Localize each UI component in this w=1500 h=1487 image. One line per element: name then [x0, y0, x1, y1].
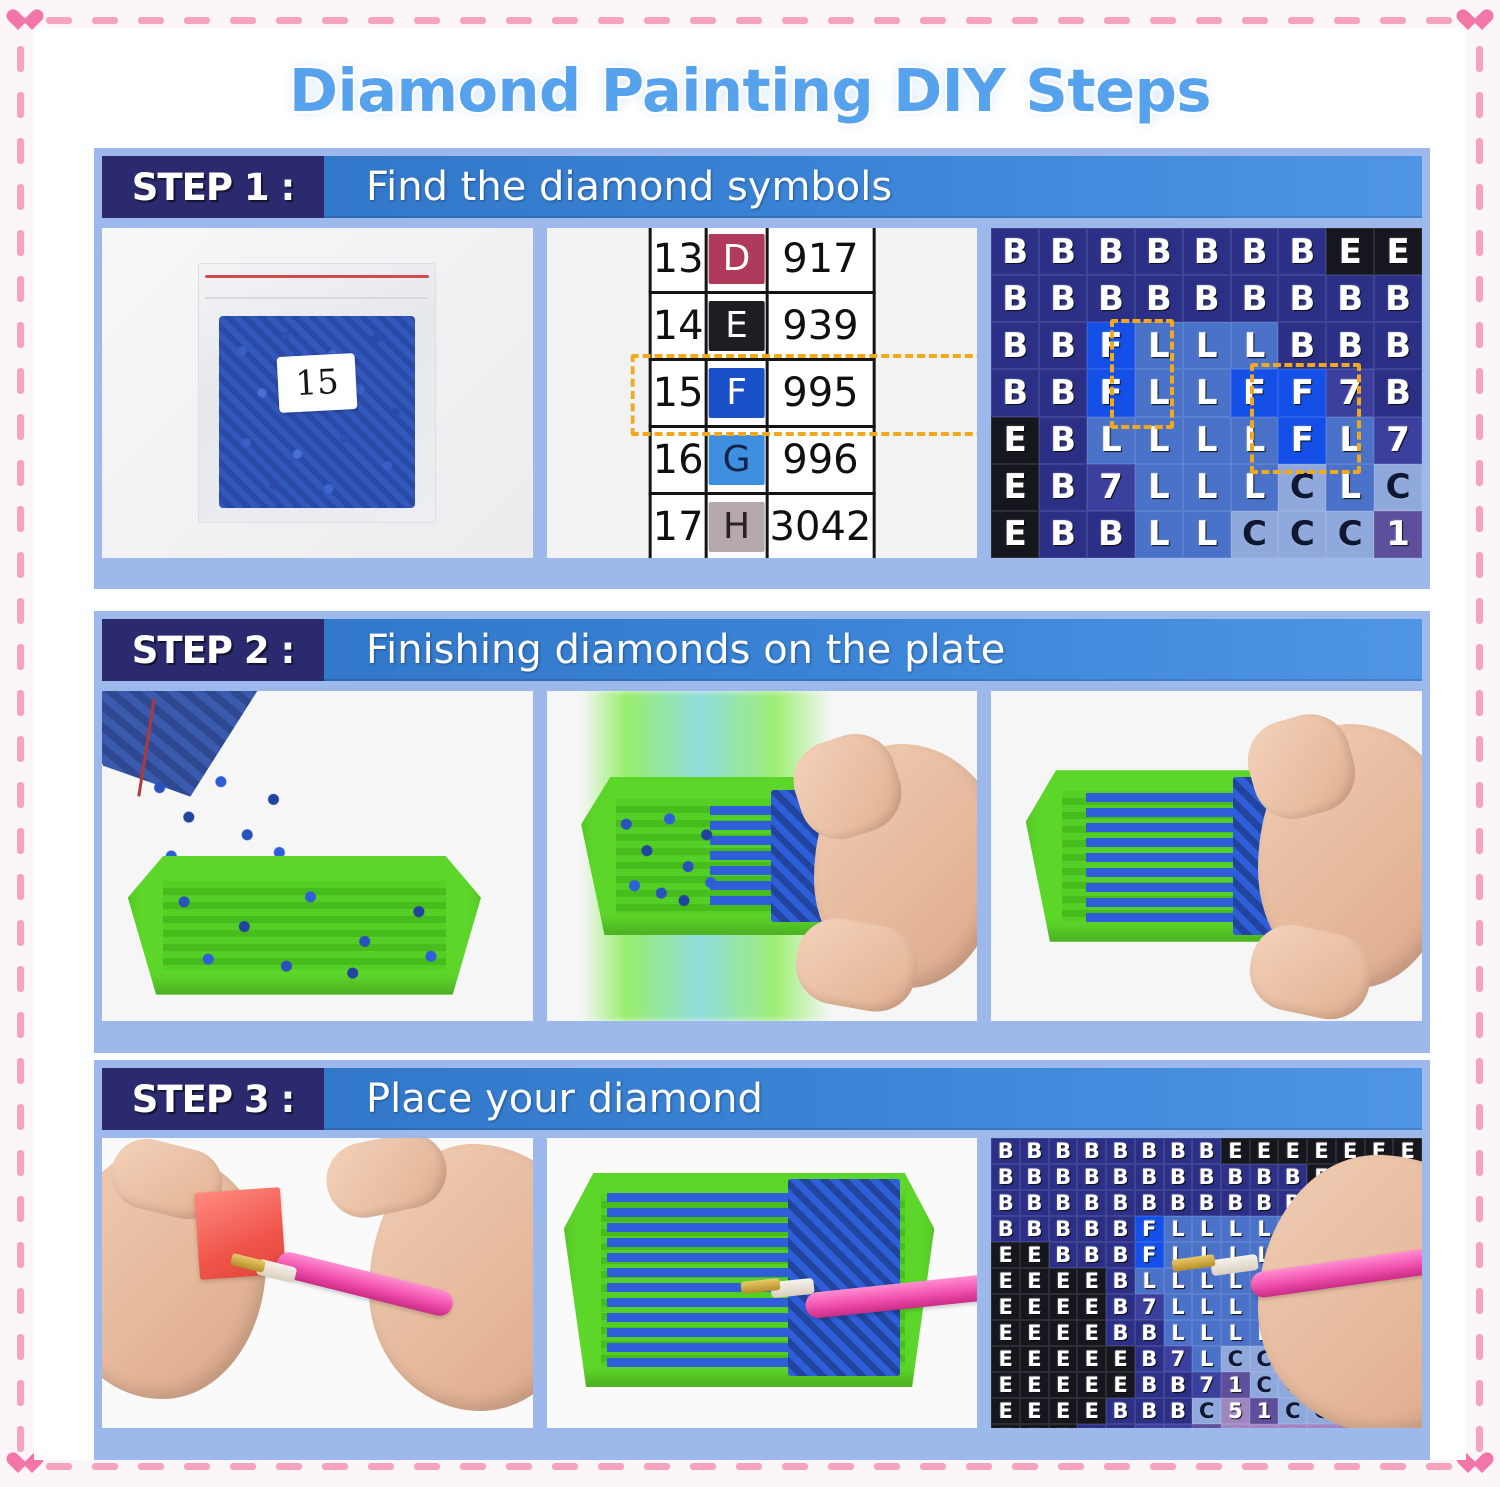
page-title: Diamond Painting DIY Steps	[34, 48, 1466, 134]
step-3-badge: STEP 3 :	[102, 1068, 324, 1130]
grid-cell: B	[991, 1190, 1020, 1216]
grid-cell: E	[991, 1320, 1020, 1346]
grid-cell: E	[991, 1398, 1020, 1424]
grid-cell: B	[1106, 1242, 1135, 1268]
grid-cell: B	[1049, 1242, 1078, 1268]
pour-diamonds-photo	[102, 691, 533, 1021]
grid-cell: B	[1020, 1138, 1049, 1164]
grid-cell: L	[1135, 417, 1183, 464]
grid-cell: B	[1221, 1190, 1250, 1216]
step-1-header: STEP 1 : Find the diamond symbols	[102, 156, 1422, 218]
step-1-block: STEP 1 : Find the diamond symbols 15	[94, 148, 1430, 589]
loose-diamonds-in-tray	[154, 882, 455, 981]
grid-cell: B	[1192, 1164, 1221, 1190]
grid-cell: C	[1250, 1372, 1279, 1398]
grid-cell: L	[1192, 1320, 1221, 1346]
grid-cell: L	[1326, 417, 1374, 464]
grid-cell: E	[1020, 1346, 1049, 1372]
grid-cell: B	[1135, 1346, 1164, 1372]
legend-symbol-cell: F	[706, 360, 767, 427]
grid-cell: 1	[1374, 511, 1422, 558]
grid-cell: B	[1278, 1164, 1307, 1190]
grid-cell: B	[1164, 1138, 1193, 1164]
grid-cell: B	[1077, 1216, 1106, 1242]
grid-cell: L	[1221, 1294, 1250, 1320]
step-2-badge: STEP 2 :	[102, 619, 324, 681]
grid-cell: B	[1192, 1138, 1221, 1164]
grid-cell: L	[1221, 1216, 1250, 1242]
grid-cell: B	[991, 1216, 1020, 1242]
legend-symbol: H	[709, 502, 765, 552]
bag-zip-line	[205, 297, 429, 299]
grid-cell: L	[1192, 1294, 1221, 1320]
grid-cell: B	[1135, 275, 1183, 322]
grid-cell: B	[1039, 228, 1087, 275]
grid-cell: 7	[1087, 464, 1135, 511]
step-3-title: Place your diamond	[324, 1068, 763, 1130]
grid-cell: B	[1087, 275, 1135, 322]
grid-cell: E	[1307, 1138, 1336, 1164]
bag-zip-seal	[205, 275, 429, 278]
legend-dmc-code: 917	[767, 228, 874, 293]
grid-cell: F	[1278, 369, 1326, 416]
grid-cell: L	[1164, 1294, 1193, 1320]
grid-cell: B	[1106, 1190, 1135, 1216]
grid-cell: L	[1183, 464, 1231, 511]
grid-cell: L	[1135, 511, 1183, 558]
grid-cell: L	[1183, 511, 1231, 558]
grid-cell: L	[1231, 417, 1279, 464]
step-2-header: STEP 2 : Finishing diamonds on the plate	[102, 619, 1422, 681]
symbol-legend-table: 13D91714E93915F99516G99617H3042	[547, 228, 978, 558]
grid-cell: 7	[1164, 1346, 1193, 1372]
legend-symbol: E	[709, 301, 765, 351]
grid-cell: B	[1106, 1320, 1135, 1346]
grid-cell: B	[1020, 1164, 1049, 1190]
grid-cell: B	[991, 322, 1039, 369]
grid-cell: 7	[1164, 1424, 1193, 1428]
grid-cell: B	[1135, 1320, 1164, 1346]
grid-cell: E	[1049, 1346, 1078, 1372]
grid-cell: L	[1135, 464, 1183, 511]
grid-cell: B	[1231, 275, 1279, 322]
grid-cell: B	[991, 369, 1039, 416]
grid-cell: 5	[1250, 1424, 1279, 1428]
grid-cell: E	[1020, 1268, 1049, 1294]
grid-cell: L	[1087, 417, 1135, 464]
grid-cell: B	[1039, 369, 1087, 416]
grid-cell: C	[1231, 511, 1279, 558]
step-1-title: Find the diamond symbols	[324, 156, 892, 218]
diamond-pile	[788, 1179, 900, 1376]
grid-cell: E	[1020, 1242, 1049, 1268]
shake-tray-photo	[547, 691, 978, 1021]
grid-cell: E	[991, 1294, 1020, 1320]
grid-cell: L	[1135, 322, 1183, 369]
grid-cell: B	[1087, 511, 1135, 558]
grid-cell: B	[1135, 1138, 1164, 1164]
grid-cell: 5	[1221, 1398, 1250, 1424]
loose-diamonds	[616, 803, 719, 909]
legend-number: 17	[650, 494, 706, 559]
grid-cell: C	[1374, 464, 1422, 511]
grid-cell: B	[1039, 511, 1087, 558]
grid-cell: B	[1020, 1216, 1049, 1242]
grid-cell: E	[1077, 1398, 1106, 1424]
grid-cell: B	[1135, 1398, 1164, 1424]
legend-number: 16	[650, 427, 706, 494]
grid-cell: 1	[1221, 1372, 1250, 1398]
grid-cell: 5	[1278, 1424, 1307, 1428]
grid-cell: 7	[1192, 1372, 1221, 1398]
legend-symbol-cell: H	[706, 494, 767, 559]
grid-cell: L	[1164, 1268, 1193, 1294]
grid-cell: E	[1020, 1294, 1049, 1320]
legend-table-wrap: 13D91714E93915F99516G99617H3042	[649, 228, 876, 558]
grid-cell: B	[1077, 1164, 1106, 1190]
step-3-panels: BBBBBBBBEEEEEEEBBBBBBBBBBBEEBBBBBBBBBBBB…	[102, 1138, 1422, 1428]
grid-cell: B	[1106, 1268, 1135, 1294]
grid-cell: E	[1077, 1294, 1106, 1320]
grid-cell: B	[1106, 1216, 1135, 1242]
grid-cell: E	[991, 1372, 1020, 1398]
grid-cell: B	[1049, 1190, 1078, 1216]
grid-cell: E	[1020, 1372, 1049, 1398]
legend-dmc-code: 996	[767, 427, 874, 494]
table-row: 13D917	[650, 228, 874, 293]
grid-cell: B	[1231, 228, 1279, 275]
grid-cell: E	[1250, 1138, 1279, 1164]
grid-cell: 5	[1307, 1424, 1336, 1428]
grid-cell: E	[1049, 1294, 1078, 1320]
grid-cell: B	[1077, 1242, 1106, 1268]
grid-cell: B	[1039, 464, 1087, 511]
grid-cell: B	[1192, 1190, 1221, 1216]
grid-cell: C	[1278, 464, 1326, 511]
grid-cell: 1	[1250, 1398, 1279, 1424]
legend-symbol: F	[709, 368, 765, 418]
canvas-symbol-grid-large: BBBBBBBBEEEEEEEBBBBBBBBBBBEEBBBBBBBBBBBB…	[991, 1138, 1422, 1428]
grid-cell: L	[1164, 1216, 1193, 1242]
pick-diamond-photo	[547, 1138, 978, 1428]
grid-cell: B	[991, 228, 1039, 275]
grid-cell: B	[1164, 1398, 1193, 1424]
symbol-grid-small: BBBBBBBEEBBBBBBBBBBBFLLLBBBBBFLLFF7BEBLL…	[991, 228, 1422, 558]
grid-cell: B	[1077, 1190, 1106, 1216]
grid-cell: B	[1164, 1372, 1193, 1398]
grid-cell: F	[1087, 369, 1135, 416]
grid-cell: L	[1183, 417, 1231, 464]
grid-cell: E	[1049, 1398, 1078, 1424]
grid-cell: B	[1250, 1190, 1279, 1216]
grid-cell: L	[1164, 1320, 1193, 1346]
grid-cell: E	[991, 464, 1039, 511]
step-2-block: STEP 2 : Finishing diamonds on the plate	[94, 611, 1430, 1053]
grid-cell: E	[991, 1346, 1020, 1372]
grid-cell: L	[1231, 322, 1279, 369]
grid-cell: L	[1135, 1268, 1164, 1294]
step-3-block: STEP 3 : Place your diamond	[94, 1060, 1430, 1460]
grid-cell: B	[1049, 1138, 1078, 1164]
grid-cell: E	[991, 1268, 1020, 1294]
grid-cell: E	[1020, 1424, 1049, 1428]
grid-cell: L	[1135, 369, 1183, 416]
grid-cell: L	[1192, 1216, 1221, 1242]
grid-cell: F	[1087, 322, 1135, 369]
aligned-diamonds-photo	[991, 691, 1422, 1021]
grid-cell: E	[991, 511, 1039, 558]
decorative-pink-frame: Diamond Painting DIY Steps STEP 1 : Find…	[0, 0, 1500, 1487]
grid-cell: B	[1039, 275, 1087, 322]
grid-cell: B	[1183, 275, 1231, 322]
grid-cell: E	[1278, 1138, 1307, 1164]
grid-cell: B	[1250, 1164, 1279, 1190]
grid-cell: C	[1192, 1398, 1221, 1424]
grid-cell: 5	[1221, 1424, 1250, 1428]
step-2-title: Finishing diamonds on the plate	[324, 619, 1005, 681]
grid-cell: B	[1164, 1164, 1193, 1190]
grid-cell: B	[1135, 1190, 1164, 1216]
grid-cell: L	[1221, 1320, 1250, 1346]
grid-cell: B	[1326, 275, 1374, 322]
grid-cell: 7	[1374, 417, 1422, 464]
grid-cell: B	[1374, 275, 1422, 322]
grid-cell: C	[1221, 1346, 1250, 1372]
grid-cell: F	[1135, 1216, 1164, 1242]
grid-cell: 7	[1135, 1424, 1164, 1428]
grid-cell: F	[1135, 1242, 1164, 1268]
grid-cell: E	[1049, 1268, 1078, 1294]
bag-number-label: 15	[277, 353, 358, 413]
grid-cell: E	[1326, 228, 1374, 275]
grid-cell: B	[1106, 1138, 1135, 1164]
grid-cell: L	[1326, 464, 1374, 511]
table-row: 16G996	[650, 427, 874, 494]
grid-cell: E	[1221, 1138, 1250, 1164]
grid-cell: E	[1049, 1424, 1078, 1428]
grid-cell: L	[1192, 1346, 1221, 1372]
grid-cell: E	[1077, 1268, 1106, 1294]
grid-cell: E	[991, 1242, 1020, 1268]
grid-cell: B	[1278, 275, 1326, 322]
grid-cell: B	[1077, 1138, 1106, 1164]
legend-symbol: G	[709, 435, 765, 485]
grid-cell: B	[1183, 228, 1231, 275]
step-2-panels	[102, 691, 1422, 1021]
grid-cell: B	[1106, 1424, 1135, 1428]
grid-cell: L	[1183, 369, 1231, 416]
legend-number: 13	[650, 228, 706, 293]
diamond-bag: 15	[198, 263, 436, 523]
step-3-header: STEP 3 : Place your diamond	[102, 1068, 1422, 1130]
grid-cell: B	[1221, 1164, 1250, 1190]
grid-cell: B	[1374, 322, 1422, 369]
table-row: 14E939	[650, 293, 874, 360]
grid-cell: E	[1077, 1372, 1106, 1398]
grid-cell: B	[1135, 228, 1183, 275]
grid-cell: E	[1020, 1398, 1049, 1424]
grid-cell: E	[991, 1424, 1020, 1428]
grid-cell: L	[1231, 464, 1279, 511]
grid-cell: F	[1231, 369, 1279, 416]
blue-diamond-beads	[219, 316, 415, 508]
grid-cell: B	[1039, 417, 1087, 464]
grid-cell: E	[1106, 1372, 1135, 1398]
grid-cell: B	[1164, 1190, 1193, 1216]
grid-cell: B	[1106, 1398, 1135, 1424]
grid-cell: B	[991, 1138, 1020, 1164]
grid-cell: E	[1077, 1320, 1106, 1346]
grid-cell: E	[1374, 228, 1422, 275]
legend-symbol-cell: D	[706, 228, 767, 293]
step-1-badge: STEP 1 :	[102, 156, 324, 218]
wax-pen-photo	[102, 1138, 533, 1428]
grid-cell: B	[1039, 322, 1087, 369]
content-card: Diamond Painting DIY Steps STEP 1 : Find…	[34, 28, 1466, 1460]
legend-table: 13D91714E93915F99516G99617H3042	[649, 228, 876, 558]
grid-cell: B	[1278, 322, 1326, 369]
grid-cell: B	[1049, 1216, 1078, 1242]
legend-dmc-code: 939	[767, 293, 874, 360]
legend-symbol-cell: E	[706, 293, 767, 360]
grid-cell: 1	[1192, 1424, 1221, 1428]
grid-cell: E	[1049, 1372, 1078, 1398]
grid-cell: C	[1278, 511, 1326, 558]
legend-symbol-cell: G	[706, 427, 767, 494]
grid-cell: 7	[1135, 1294, 1164, 1320]
grid-cell: E	[1049, 1320, 1078, 1346]
grid-cell: 7	[1326, 369, 1374, 416]
grid-cell: B	[1374, 369, 1422, 416]
legend-dmc-code: 995	[767, 360, 874, 427]
grid-cell: B	[1106, 1164, 1135, 1190]
table-row: 15F995	[650, 360, 874, 427]
grid-cell: B	[1020, 1190, 1049, 1216]
grid-cell: B	[991, 275, 1039, 322]
step-1-panels: 15 13D91714E93915F99516G99617H3042	[102, 228, 1422, 558]
diamond-bag-photo: 15	[102, 228, 533, 558]
grid-cell: B	[1278, 228, 1326, 275]
legend-number: 14	[650, 293, 706, 360]
grid-cell: B	[1135, 1372, 1164, 1398]
grid-cell: B	[1106, 1294, 1135, 1320]
legend-symbol: D	[709, 234, 765, 284]
grid-cell: B	[1087, 228, 1135, 275]
grid-cell: E	[991, 417, 1039, 464]
grid-cell: B	[991, 1164, 1020, 1190]
table-row: 17H3042	[650, 494, 874, 559]
grid-cell: B	[1135, 1164, 1164, 1190]
grid-cell: B	[1077, 1424, 1106, 1428]
legend-dmc-code: 3042	[767, 494, 874, 559]
grid-cell: B	[1326, 322, 1374, 369]
canvas-symbol-grid-small: BBBBBBBEEBBBBBBBBBBBFLLLBBBBBFLLFF7BEBLL…	[991, 228, 1422, 558]
grid-cell: L	[1183, 322, 1231, 369]
legend-number: 15	[650, 360, 706, 427]
grid-cell: C	[1326, 511, 1374, 558]
grid-cell: E	[1020, 1320, 1049, 1346]
grid-cell: B	[1049, 1164, 1078, 1190]
grid-cell: E	[1077, 1346, 1106, 1372]
grid-cell: F	[1278, 417, 1326, 464]
grid-cell: E	[1106, 1346, 1135, 1372]
